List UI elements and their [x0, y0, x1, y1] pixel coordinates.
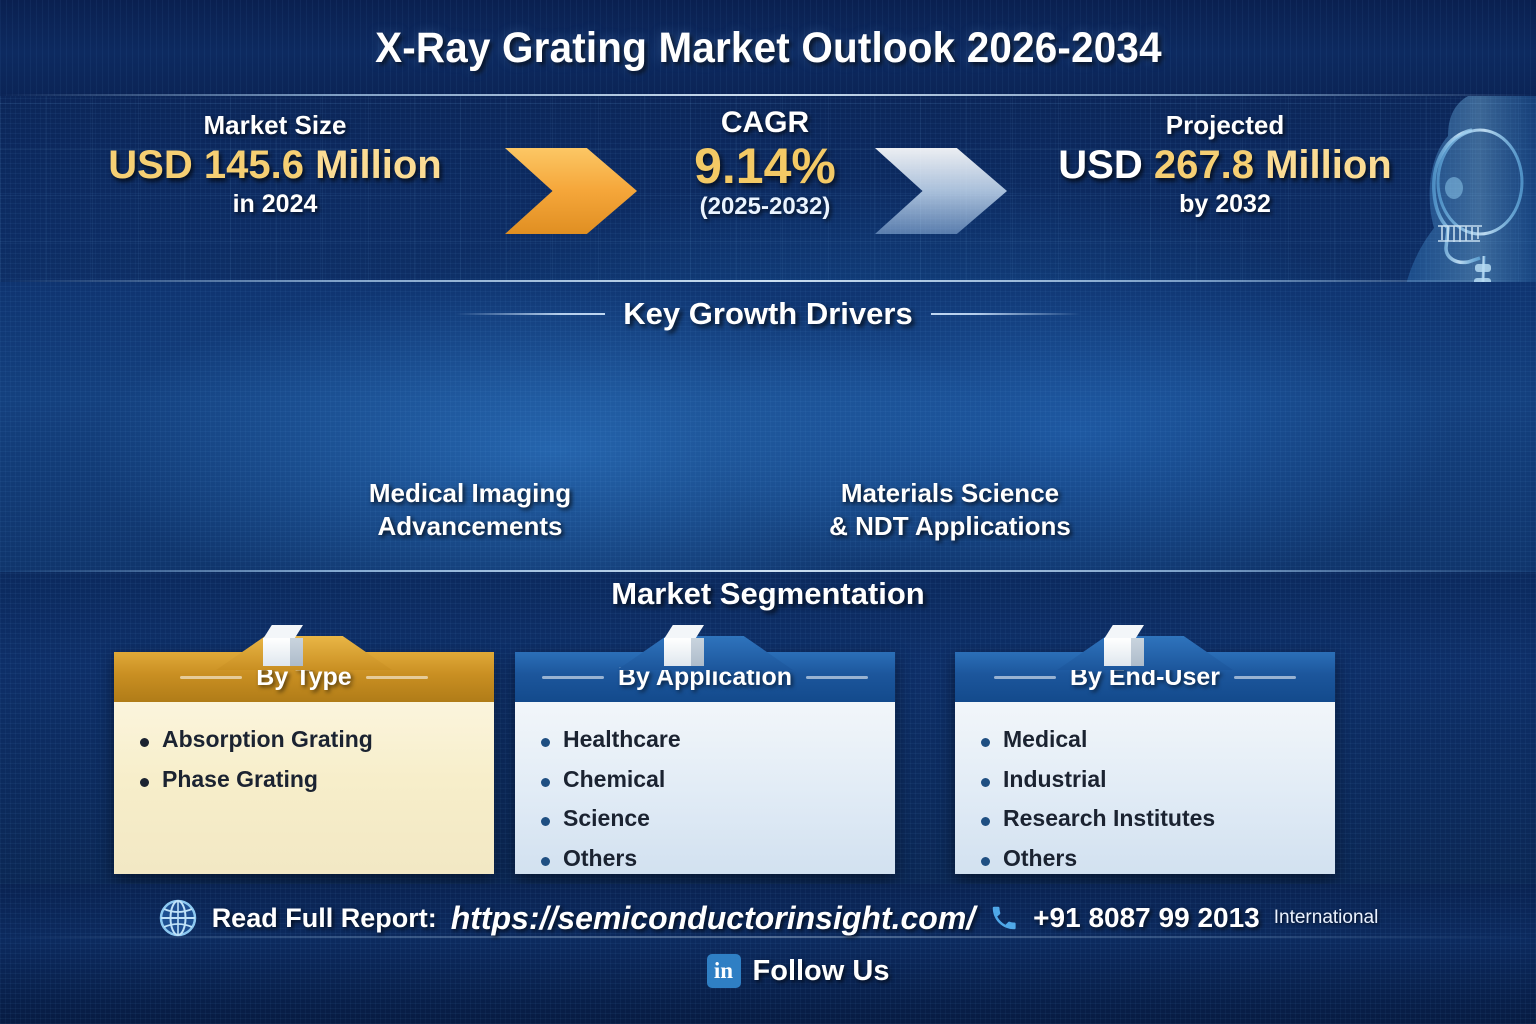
- list-item-label: Research Institutes: [1003, 799, 1215, 839]
- stat-cagr-value: 9.14%: [540, 140, 990, 193]
- bullet-dot-icon: [140, 778, 149, 787]
- infographic-root: X-Ray Grating Market Outlook 2026-2034 M…: [0, 0, 1536, 1024]
- stat-market-size-label: Market Size: [55, 110, 495, 141]
- stat-projected-prefix: USD: [1058, 143, 1154, 187]
- bullet-dot-icon: [981, 817, 990, 826]
- phone-number[interactable]: +91 8087 99 2013: [1033, 902, 1260, 934]
- header-dash-right: [1234, 676, 1296, 679]
- segmentation-section-header: Market Segmentation: [0, 576, 1536, 612]
- bullet-dot-icon: [981, 738, 990, 747]
- linkedin-mark: in: [714, 958, 733, 984]
- list-item: Others: [541, 839, 875, 879]
- stat-projected-year: by 2032: [990, 190, 1460, 219]
- stat-projected-number: 267.8: [1154, 143, 1254, 187]
- drivers-section-title: Key Growth Drivers: [623, 296, 912, 332]
- list-item-label: Others: [563, 839, 637, 879]
- stat-market-size-number: 145.6: [204, 143, 304, 187]
- segmentation-section-title: Market Segmentation: [611, 576, 925, 612]
- driver-materials-science-line1: Materials Science: [800, 477, 1100, 510]
- stat-cagr-period: (2025-2032): [540, 193, 990, 221]
- segmentation-cards: By Type Absorption Grating Phase Grating…: [0, 626, 1536, 876]
- stat-projected-label: Projected: [990, 110, 1460, 141]
- stat-market-size-year: in 2024: [55, 190, 495, 219]
- page-title: X-Ray Grating Market Outlook 2026-2034: [375, 24, 1162, 73]
- bullet-dot-icon: [541, 817, 550, 826]
- bullet-dot-icon: [981, 857, 990, 866]
- list-item-label: Science: [563, 799, 650, 839]
- stat-cagr: CAGR 9.14% (2025-2032): [540, 106, 990, 221]
- linkedin-icon[interactable]: in: [707, 954, 741, 988]
- phone-note: International: [1274, 907, 1379, 929]
- stat-projected: Projected USD 267.8 Million by 2032: [990, 110, 1460, 219]
- list-item: Healthcare: [541, 720, 875, 760]
- list-item-label: Medical: [1003, 720, 1087, 760]
- key-growth-drivers-band: Key Growth Drivers: [0, 282, 1536, 572]
- header-dash-right: [806, 676, 868, 679]
- list-item: Science: [541, 799, 875, 839]
- stat-cagr-label: CAGR: [540, 106, 990, 140]
- bullet-dot-icon: [541, 857, 550, 866]
- list-item: Chemical: [541, 760, 875, 800]
- card-body-by-type: Absorption Grating Phase Grating: [114, 702, 494, 874]
- list-item-label: Phase Grating: [162, 760, 318, 800]
- cube-icon: [254, 625, 312, 667]
- drivers-section-header: Key Growth Drivers: [0, 296, 1536, 332]
- driver-medical-imaging-line1: Medical Imaging: [330, 477, 610, 510]
- cube-icon: [655, 625, 713, 667]
- header-rule-right: [931, 313, 1081, 315]
- driver-medical-imaging: Medical Imaging Advancements: [330, 477, 610, 542]
- card-body-by-application: Healthcare Chemical Science Others: [515, 702, 895, 874]
- report-url-link[interactable]: https://semiconductorinsight.com/: [451, 900, 975, 937]
- card-body-by-end-user: Medical Industrial Research Institutes O…: [955, 702, 1335, 874]
- header-dash-right: [366, 676, 428, 679]
- footer-contact-row: Read Full Report: https://semiconductori…: [0, 898, 1536, 938]
- header-dash-left: [180, 676, 242, 679]
- follow-us-label: Follow Us: [753, 955, 890, 988]
- segmentation-card-by-end-user[interactable]: By End-User Medical Industrial Research …: [955, 652, 1335, 874]
- list-item-label: Chemical: [563, 760, 665, 800]
- segmentation-card-by-type[interactable]: By Type Absorption Grating Phase Grating: [114, 652, 494, 874]
- list-item: Phase Grating: [140, 760, 474, 800]
- stat-market-size-unit: Million: [304, 143, 442, 187]
- list-item-label: Healthcare: [563, 720, 681, 760]
- footer-band: Read Full Report: https://semiconductori…: [0, 884, 1536, 1024]
- read-full-report-label: Read Full Report:: [212, 903, 437, 934]
- card-list-by-type: Absorption Grating Phase Grating: [140, 720, 474, 799]
- footer-social-row: in Follow Us: [0, 954, 1536, 988]
- list-item: Others: [981, 839, 1315, 879]
- header-dash-left: [542, 676, 604, 679]
- driver-materials-science: Materials Science & NDT Applications: [800, 477, 1100, 542]
- header-rule-left: [455, 313, 605, 315]
- header-dash-left: [994, 676, 1056, 679]
- bullet-dot-icon: [541, 738, 550, 747]
- globe-icon: [158, 898, 198, 938]
- bullet-dot-icon: [541, 778, 550, 787]
- phone-icon: [989, 903, 1019, 933]
- card-list-by-end-user: Medical Industrial Research Institutes O…: [981, 720, 1315, 878]
- card-list-by-application: Healthcare Chemical Science Others: [541, 720, 875, 878]
- title-band: X-Ray Grating Market Outlook 2026-2034: [0, 0, 1536, 96]
- bullet-dot-icon: [140, 738, 149, 747]
- stat-projected-unit: Million: [1254, 143, 1392, 187]
- stat-market-size: Market Size USD 145.6 Million in 2024: [55, 110, 495, 219]
- list-item-label: Absorption Grating: [162, 720, 373, 760]
- cube-icon: [1095, 625, 1153, 667]
- bullet-dot-icon: [981, 778, 990, 787]
- market-segmentation-band: Market Segmentation By Type: [0, 572, 1536, 884]
- list-item: Medical: [981, 720, 1315, 760]
- list-item-label: Others: [1003, 839, 1077, 879]
- stat-market-size-prefix: USD: [108, 143, 204, 187]
- list-item-label: Industrial: [1003, 760, 1107, 800]
- driver-materials-science-line2: & NDT Applications: [800, 510, 1100, 543]
- segmentation-card-by-application[interactable]: By Application Healthcare Chemical Scien…: [515, 652, 895, 874]
- list-item: Absorption Grating: [140, 720, 474, 760]
- driver-medical-imaging-line2: Advancements: [330, 510, 610, 543]
- list-item: Research Institutes: [981, 799, 1315, 839]
- stats-band: Market Size USD 145.6 Million in 2024 CA…: [0, 96, 1536, 282]
- list-item: Industrial: [981, 760, 1315, 800]
